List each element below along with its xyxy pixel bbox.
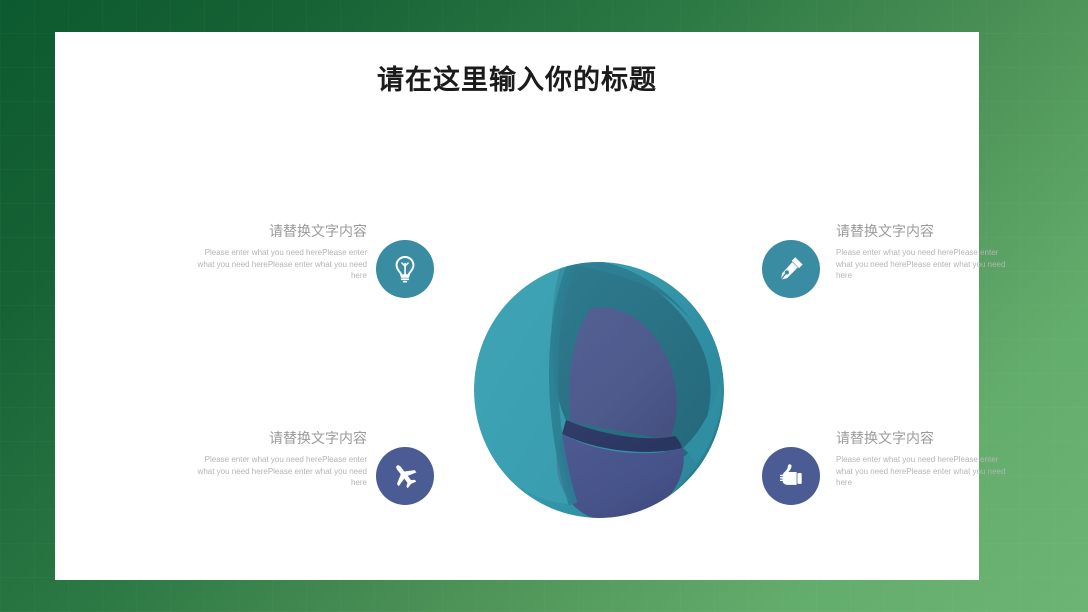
text-block-bottom-right: 请替换文字内容 Please enter what you need hereP…: [836, 429, 1016, 489]
slide-root: 请在这里输入你的标题 请替换文字内容 Please enter what you…: [0, 0, 1088, 612]
page-title: 请在这里输入你的标题: [55, 58, 979, 97]
item-body: Please enter what you need herePlease en…: [187, 247, 367, 282]
item-heading: 请替换文字内容: [187, 222, 367, 240]
item-heading: 请替换文字内容: [836, 429, 1016, 447]
lightbulb-icon: [390, 254, 420, 284]
text-block-top-left: 请替换文字内容 Please enter what you need hereP…: [187, 222, 367, 282]
item-body: Please enter what you need herePlease en…: [836, 247, 1016, 282]
airplane-icon: [390, 461, 420, 491]
text-block-top-right: 请替换文字内容 Please enter what you need hereP…: [836, 222, 1016, 282]
item-body: Please enter what you need herePlease en…: [836, 454, 1016, 489]
text-block-bottom-left: 请替换文字内容 Please enter what you need hereP…: [187, 429, 367, 489]
item-body: Please enter what you need herePlease en…: [187, 454, 367, 489]
icon-badge-top-left[interactable]: [376, 240, 434, 298]
item-heading: 请替换文字内容: [836, 222, 1016, 240]
icon-badge-top-right[interactable]: [762, 240, 820, 298]
slide-card: 请在这里输入你的标题 请替换文字内容 Please enter what you…: [55, 32, 979, 580]
icon-badge-bottom-right[interactable]: [762, 447, 820, 505]
thumbs-up-icon: [776, 461, 806, 491]
item-heading: 请替换文字内容: [187, 429, 367, 447]
icon-badge-bottom-left[interactable]: [376, 447, 434, 505]
pen-nib-icon: [776, 254, 806, 284]
cutaway-sphere-diagram: [453, 250, 745, 522]
